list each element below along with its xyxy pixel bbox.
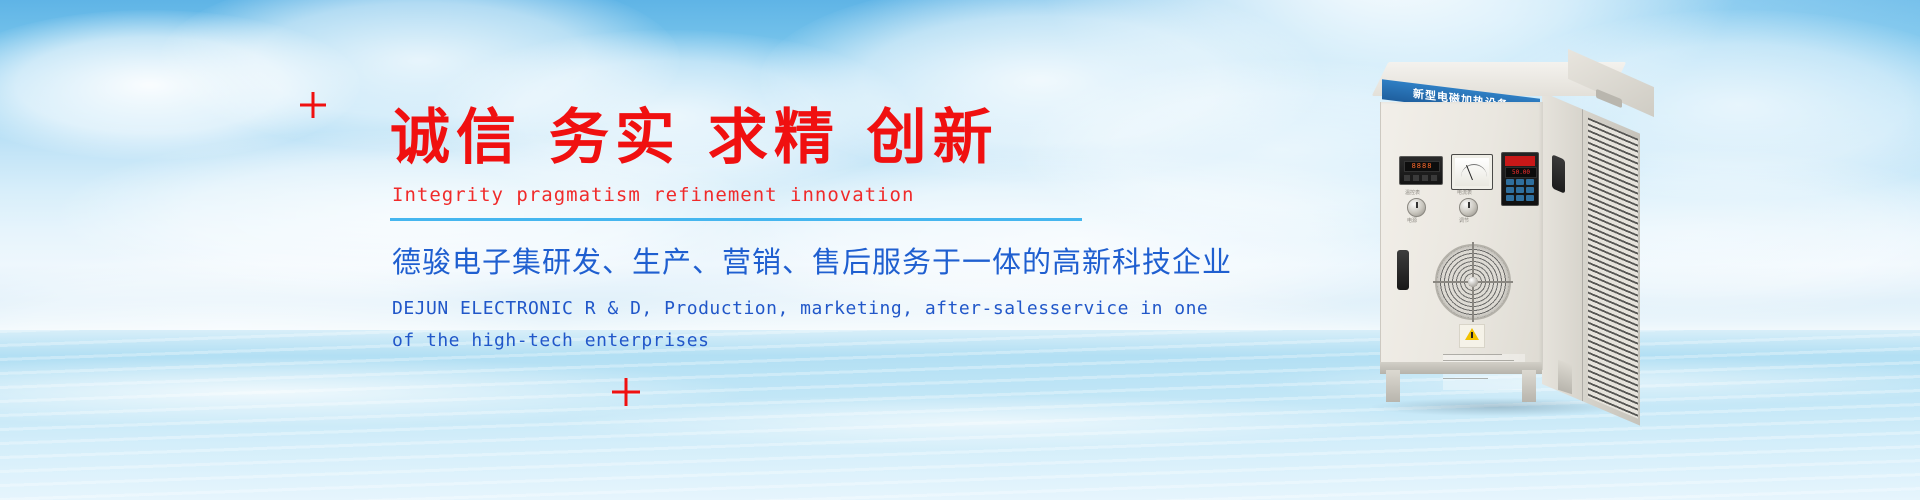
label-temp-controller: 温控表 xyxy=(1405,189,1420,196)
tagline-english-line-2: of the high-tech enterprises xyxy=(392,325,1250,357)
fan-hub xyxy=(1468,277,1478,287)
promo-banner: 诚信 务实 求精 创新 Integrity pragmatism refinem… xyxy=(0,0,1920,500)
controller-buttons xyxy=(1404,175,1438,181)
warning-label xyxy=(1459,324,1485,348)
front-door-handle xyxy=(1397,250,1409,290)
keypad-key xyxy=(1506,187,1514,193)
banner-headline-english: Integrity pragmatism refinement innovati… xyxy=(392,184,1250,206)
keypad-key xyxy=(1506,179,1514,185)
meter-scale-arc xyxy=(1461,164,1487,177)
power-knob xyxy=(1407,198,1426,217)
machine-plinth xyxy=(1380,362,1542,374)
adjust-knob xyxy=(1459,198,1478,217)
temperature-controller: 8888 xyxy=(1399,156,1443,185)
label-ammeter: 电流表 xyxy=(1457,189,1472,196)
vfd-red-strip xyxy=(1505,156,1535,166)
meter-face xyxy=(1455,158,1489,186)
machine-leg-back xyxy=(1558,360,1572,395)
product-image-heating-equipment: 新型电磁加热设备 8888 50.00 xyxy=(1372,62,1640,412)
keypad-key xyxy=(1526,187,1534,193)
tagline-english-line-1: DEJUN ELECTRONIC R & D, Production, mark… xyxy=(392,293,1250,325)
ventilation-louvers xyxy=(1588,118,1638,419)
machine-leg-right xyxy=(1522,370,1536,402)
keypad-key xyxy=(1516,195,1524,201)
spec-line xyxy=(1443,378,1488,379)
side-handle xyxy=(1552,154,1565,194)
temperature-display: 8888 xyxy=(1404,161,1440,172)
label-adjust-knob: 调节 xyxy=(1459,217,1469,224)
analog-ammeter xyxy=(1451,154,1493,190)
banner-tagline-english: DEJUN ELECTRONIC R & D, Production, mark… xyxy=(392,293,1250,356)
cooling-fan-grille xyxy=(1435,244,1511,320)
banner-tagline-chinese: 德骏电子集研发、生产、营销、售后服务于一体的高新科技企业 xyxy=(392,239,1250,281)
banner-headline: 诚信 务实 求精 创新 xyxy=(390,108,1250,168)
machine-side-panel xyxy=(1542,92,1640,426)
machine-leg-left xyxy=(1386,370,1400,402)
keypad-key xyxy=(1526,179,1534,185)
divider-rule xyxy=(390,218,1082,221)
vfd-control-module: 50.00 xyxy=(1501,152,1539,206)
vfd-keypad xyxy=(1506,179,1534,201)
panel-seam xyxy=(1582,109,1583,401)
warning-triangle-icon xyxy=(1465,328,1479,340)
vfd-display: 50.00 xyxy=(1505,167,1537,178)
keypad-key xyxy=(1516,187,1524,193)
machine-front-panel: 8888 50.00 xyxy=(1380,102,1543,370)
keypad-key xyxy=(1516,179,1524,185)
vfd-display-value: 50.00 xyxy=(1506,168,1536,177)
keypad-key xyxy=(1506,195,1514,201)
label-power-knob: 电源 xyxy=(1407,217,1417,224)
temperature-display-value: 8888 xyxy=(1405,162,1439,171)
banner-text-block: 诚信 务实 求精 创新 Integrity pragmatism refinem… xyxy=(390,108,1250,356)
spec-line xyxy=(1443,354,1502,355)
spec-line xyxy=(1443,360,1514,361)
keypad-key xyxy=(1526,195,1534,201)
